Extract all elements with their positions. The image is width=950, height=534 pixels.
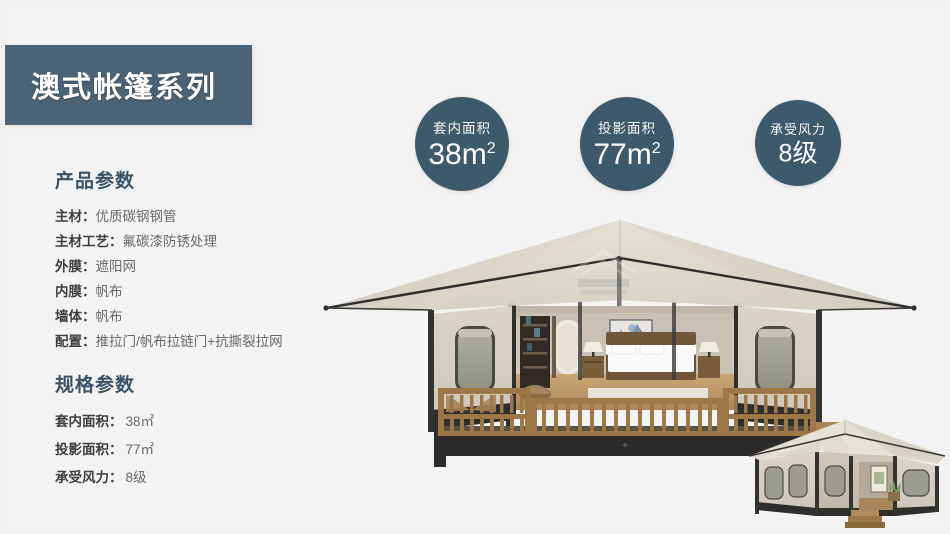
page-title: 澳式帐篷系列 xyxy=(31,64,217,106)
badge-value: 8级 xyxy=(779,140,818,167)
badge-number: 77 xyxy=(593,138,626,171)
badge-label: 投影面积 xyxy=(598,117,656,137)
param-value: 优质碳钢钢管 xyxy=(96,209,177,224)
param-row: 外膜：遮阳网 xyxy=(55,254,283,279)
product-params-section: 产品参数 主材：优质碳钢钢管 主材工艺：氟碳漆防锈处理 外膜：遮阳网 内膜：帆布… xyxy=(55,166,283,354)
badge-label: 承受风力 xyxy=(770,119,826,138)
badge-superscript: 2 xyxy=(652,140,661,157)
param-row: 主材工艺：氟碳漆防锈处理 xyxy=(55,229,283,254)
spec-row: 投影面积：77㎡ xyxy=(55,436,154,464)
param-row: 内膜：帆布 xyxy=(55,279,283,304)
slide-canvas: 澳式帐篷系列 产品参数 主材：优质碳钢钢管 主材工艺：氟碳漆防锈处理 外膜：遮阳… xyxy=(0,0,950,534)
badge-value: 77m2 xyxy=(593,139,660,171)
tent-interior xyxy=(508,302,742,414)
spec-label: 投影面积： xyxy=(55,442,123,457)
badge-unit: m xyxy=(627,138,652,171)
title-banner: 澳式帐篷系列 xyxy=(5,45,252,125)
badge-label: 套内面积 xyxy=(433,117,491,137)
product-params-heading: 产品参数 xyxy=(55,166,283,193)
param-label: 外膜： xyxy=(55,259,96,274)
spec-value: 77㎡ xyxy=(126,442,155,457)
spec-label: 承受风力： xyxy=(55,470,123,485)
param-label: 配置： xyxy=(55,334,96,349)
badge-superscript: 2 xyxy=(487,140,496,157)
badge-number: 8级 xyxy=(779,140,818,168)
param-value: 氟碳漆防锈处理 xyxy=(123,234,218,249)
spec-value: 8级 xyxy=(126,470,147,485)
param-label: 内膜： xyxy=(55,284,96,299)
spec-label: 套内面积： xyxy=(55,414,123,429)
badge-number: 38 xyxy=(428,138,461,171)
spec-row: 承受风力：8级 xyxy=(55,464,154,492)
param-value: 遮阳网 xyxy=(96,259,137,274)
param-label: 墙体： xyxy=(55,309,96,324)
param-row: 墙体：帆布 xyxy=(55,304,283,329)
spec-row: 套内面积：38㎡ xyxy=(55,408,154,436)
tent-secondary-illustration xyxy=(745,412,950,534)
spec-params-heading: 规格参数 xyxy=(55,370,154,397)
param-value: 推拉门/帆布拉链门+抗撕裂拉网 xyxy=(96,334,283,349)
param-value: 帆布 xyxy=(96,309,123,324)
spec-params-section: 规格参数 套内面积：38㎡ 投影面积：77㎡ 承受风力：8级 xyxy=(55,370,154,492)
badge-indoor-area: 套内面积 38m2 xyxy=(415,97,509,191)
param-label: 主材工艺： xyxy=(55,234,123,249)
spec-value: 38㎡ xyxy=(126,414,155,429)
badge-unit: m xyxy=(462,138,487,171)
badge-wind-resistance: 承受风力 8级 xyxy=(755,100,841,186)
badge-value: 38m2 xyxy=(428,139,495,171)
param-label: 主材： xyxy=(55,209,96,224)
param-value: 帆布 xyxy=(96,284,123,299)
param-row: 主材：优质碳钢钢管 xyxy=(55,204,283,229)
tent-roof xyxy=(323,220,916,311)
param-row: 配置：推拉门/帆布拉链门+抗撕裂拉网 xyxy=(55,329,283,354)
badge-projected-area: 投影面积 77m2 xyxy=(580,97,674,191)
